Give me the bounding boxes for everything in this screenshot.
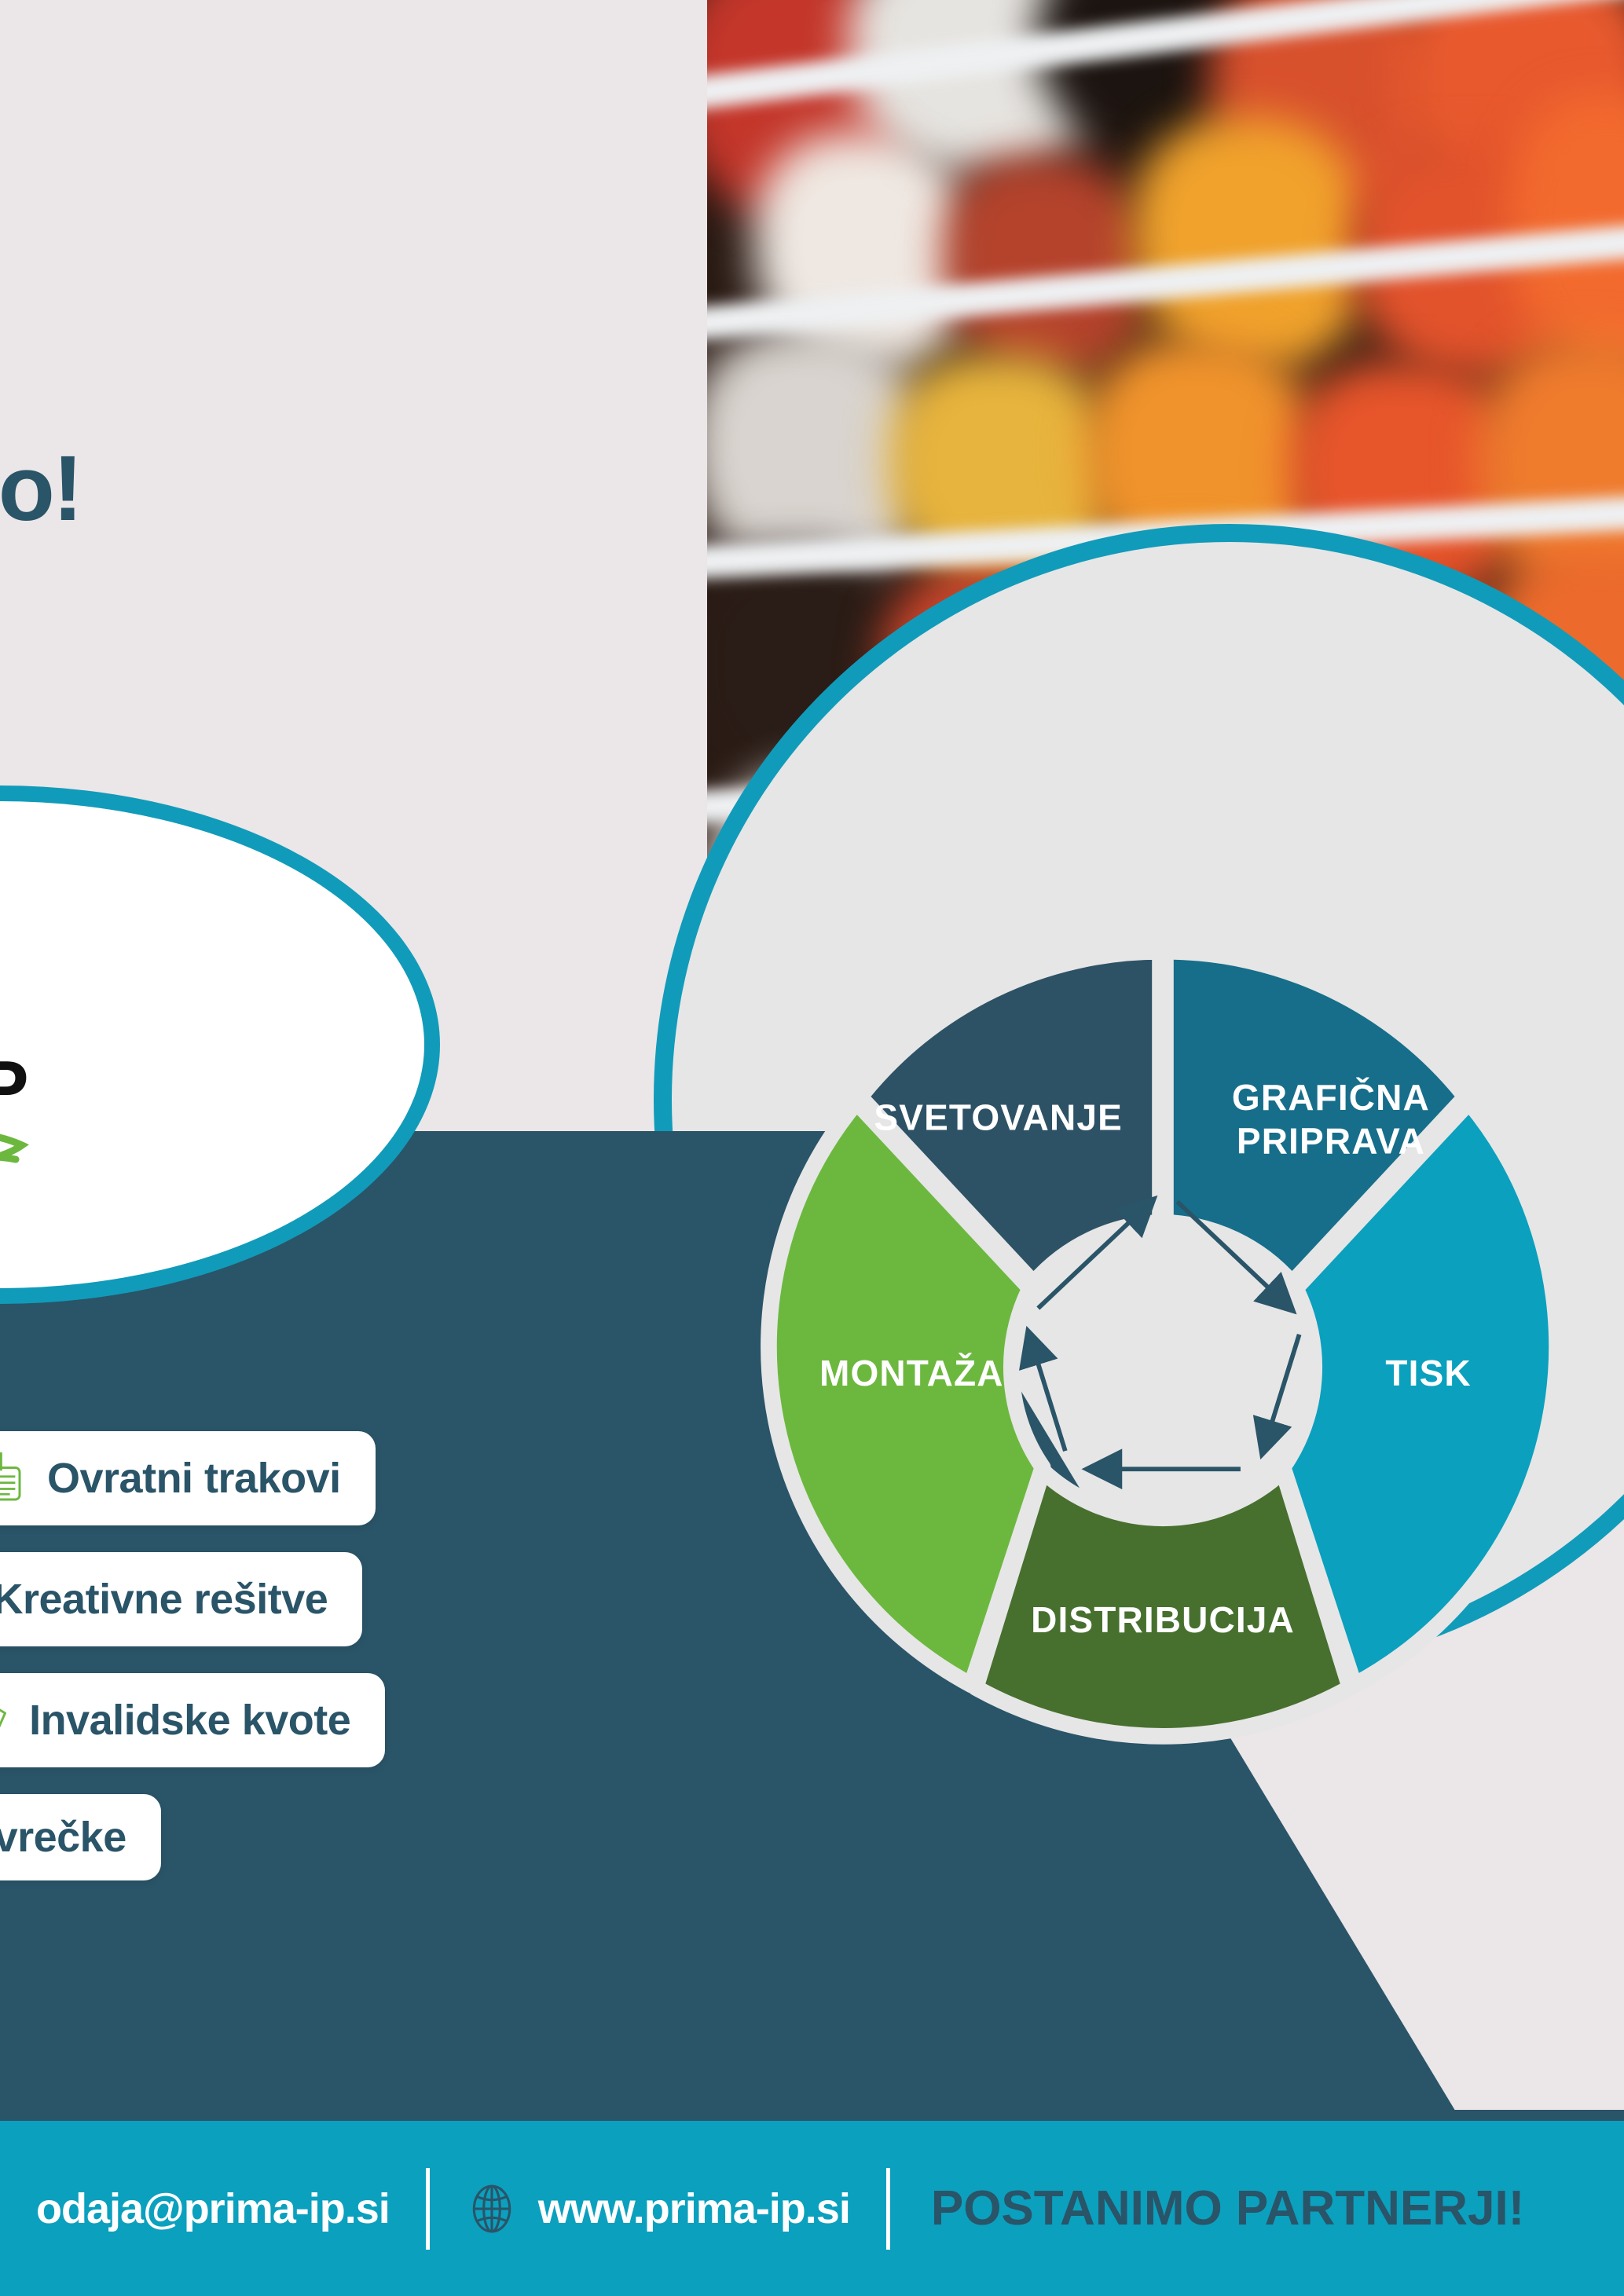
wheel-label-graficna: GRAFIČNA bbox=[1232, 1077, 1430, 1118]
feature-pill-row-3: itve Invalidske kvote bbox=[0, 1673, 691, 1767]
feature-pill-papirnate-vrecke[interactable]: apirnate vrečke bbox=[0, 1794, 161, 1880]
headline-line-4: o trgovino! bbox=[0, 442, 393, 535]
feature-pill-label: Kreativne rešitve bbox=[0, 1575, 328, 1624]
footer-website[interactable]: www.prima-ip.si bbox=[430, 2183, 886, 2235]
feature-pill-label: Invalidske kvote bbox=[29, 1696, 350, 1745]
wheel-label-tisk: TISK bbox=[1385, 1353, 1471, 1393]
feature-pill-row-1: Ovratni trakovi bbox=[0, 1431, 691, 1525]
footer-email-text: odaja@prima-ip.si bbox=[36, 2184, 390, 2233]
footer-email[interactable]: odaja@prima-ip.si bbox=[0, 2184, 426, 2233]
feature-pill-label: Ovratni trakovi bbox=[47, 1454, 341, 1503]
footer-divider bbox=[0, 2110, 1624, 2121]
process-wheel-diagram: SVETOVANJE GRAFIČNA PRIPRAVA TISK DISTRI… bbox=[711, 884, 1615, 1787]
wheel-label-montaza: MONTAŽA bbox=[819, 1353, 1004, 1393]
wheel-label-svetovanje: SVETOVANJE bbox=[874, 1097, 1123, 1137]
feature-pill-label: apirnate vrečke bbox=[0, 1813, 126, 1862]
handshake-icon bbox=[0, 1692, 9, 1749]
wheel-label-distribucija: DISTRIBUCIJA bbox=[1031, 1599, 1295, 1640]
feature-pill-row-4: apirnate vrečke bbox=[0, 1794, 691, 1880]
footer-cta: POSTANIMO PARTNERJI! bbox=[890, 2181, 1566, 2236]
headline-line-3: itveza bbox=[0, 331, 393, 430]
poster-root: polne karske itveza o trgovino! IP bbox=[0, 0, 1624, 2296]
headline-line-2: karske bbox=[0, 222, 393, 320]
headline-line-1: polne bbox=[0, 118, 393, 211]
feature-pill-row-2: l Kreativne rešitve bbox=[0, 1552, 691, 1646]
feature-pill-kreativne-resitve[interactable]: Kreativne rešitve bbox=[0, 1552, 362, 1646]
globe-icon bbox=[466, 2183, 518, 2235]
footer-bar: odaja@prima-ip.si www.prima-ip.si POSTAN… bbox=[0, 2121, 1624, 2296]
page-title: polne karske itveza o trgovino! bbox=[0, 118, 424, 546]
id-badge-icon bbox=[0, 1450, 27, 1507]
feature-pill-group: Ovratni trakovi l bbox=[0, 1431, 691, 1907]
wheel-label-priprava: PRIPRAVA bbox=[1237, 1120, 1425, 1161]
brand-swoosh-icon bbox=[0, 1114, 63, 1185]
feature-pill-invalidske-kvote[interactable]: Invalidske kvote bbox=[0, 1673, 385, 1767]
footer-website-text: www.prima-ip.si bbox=[538, 2184, 850, 2233]
feature-pill-ovratni-trakovi[interactable]: Ovratni trakovi bbox=[0, 1431, 376, 1525]
